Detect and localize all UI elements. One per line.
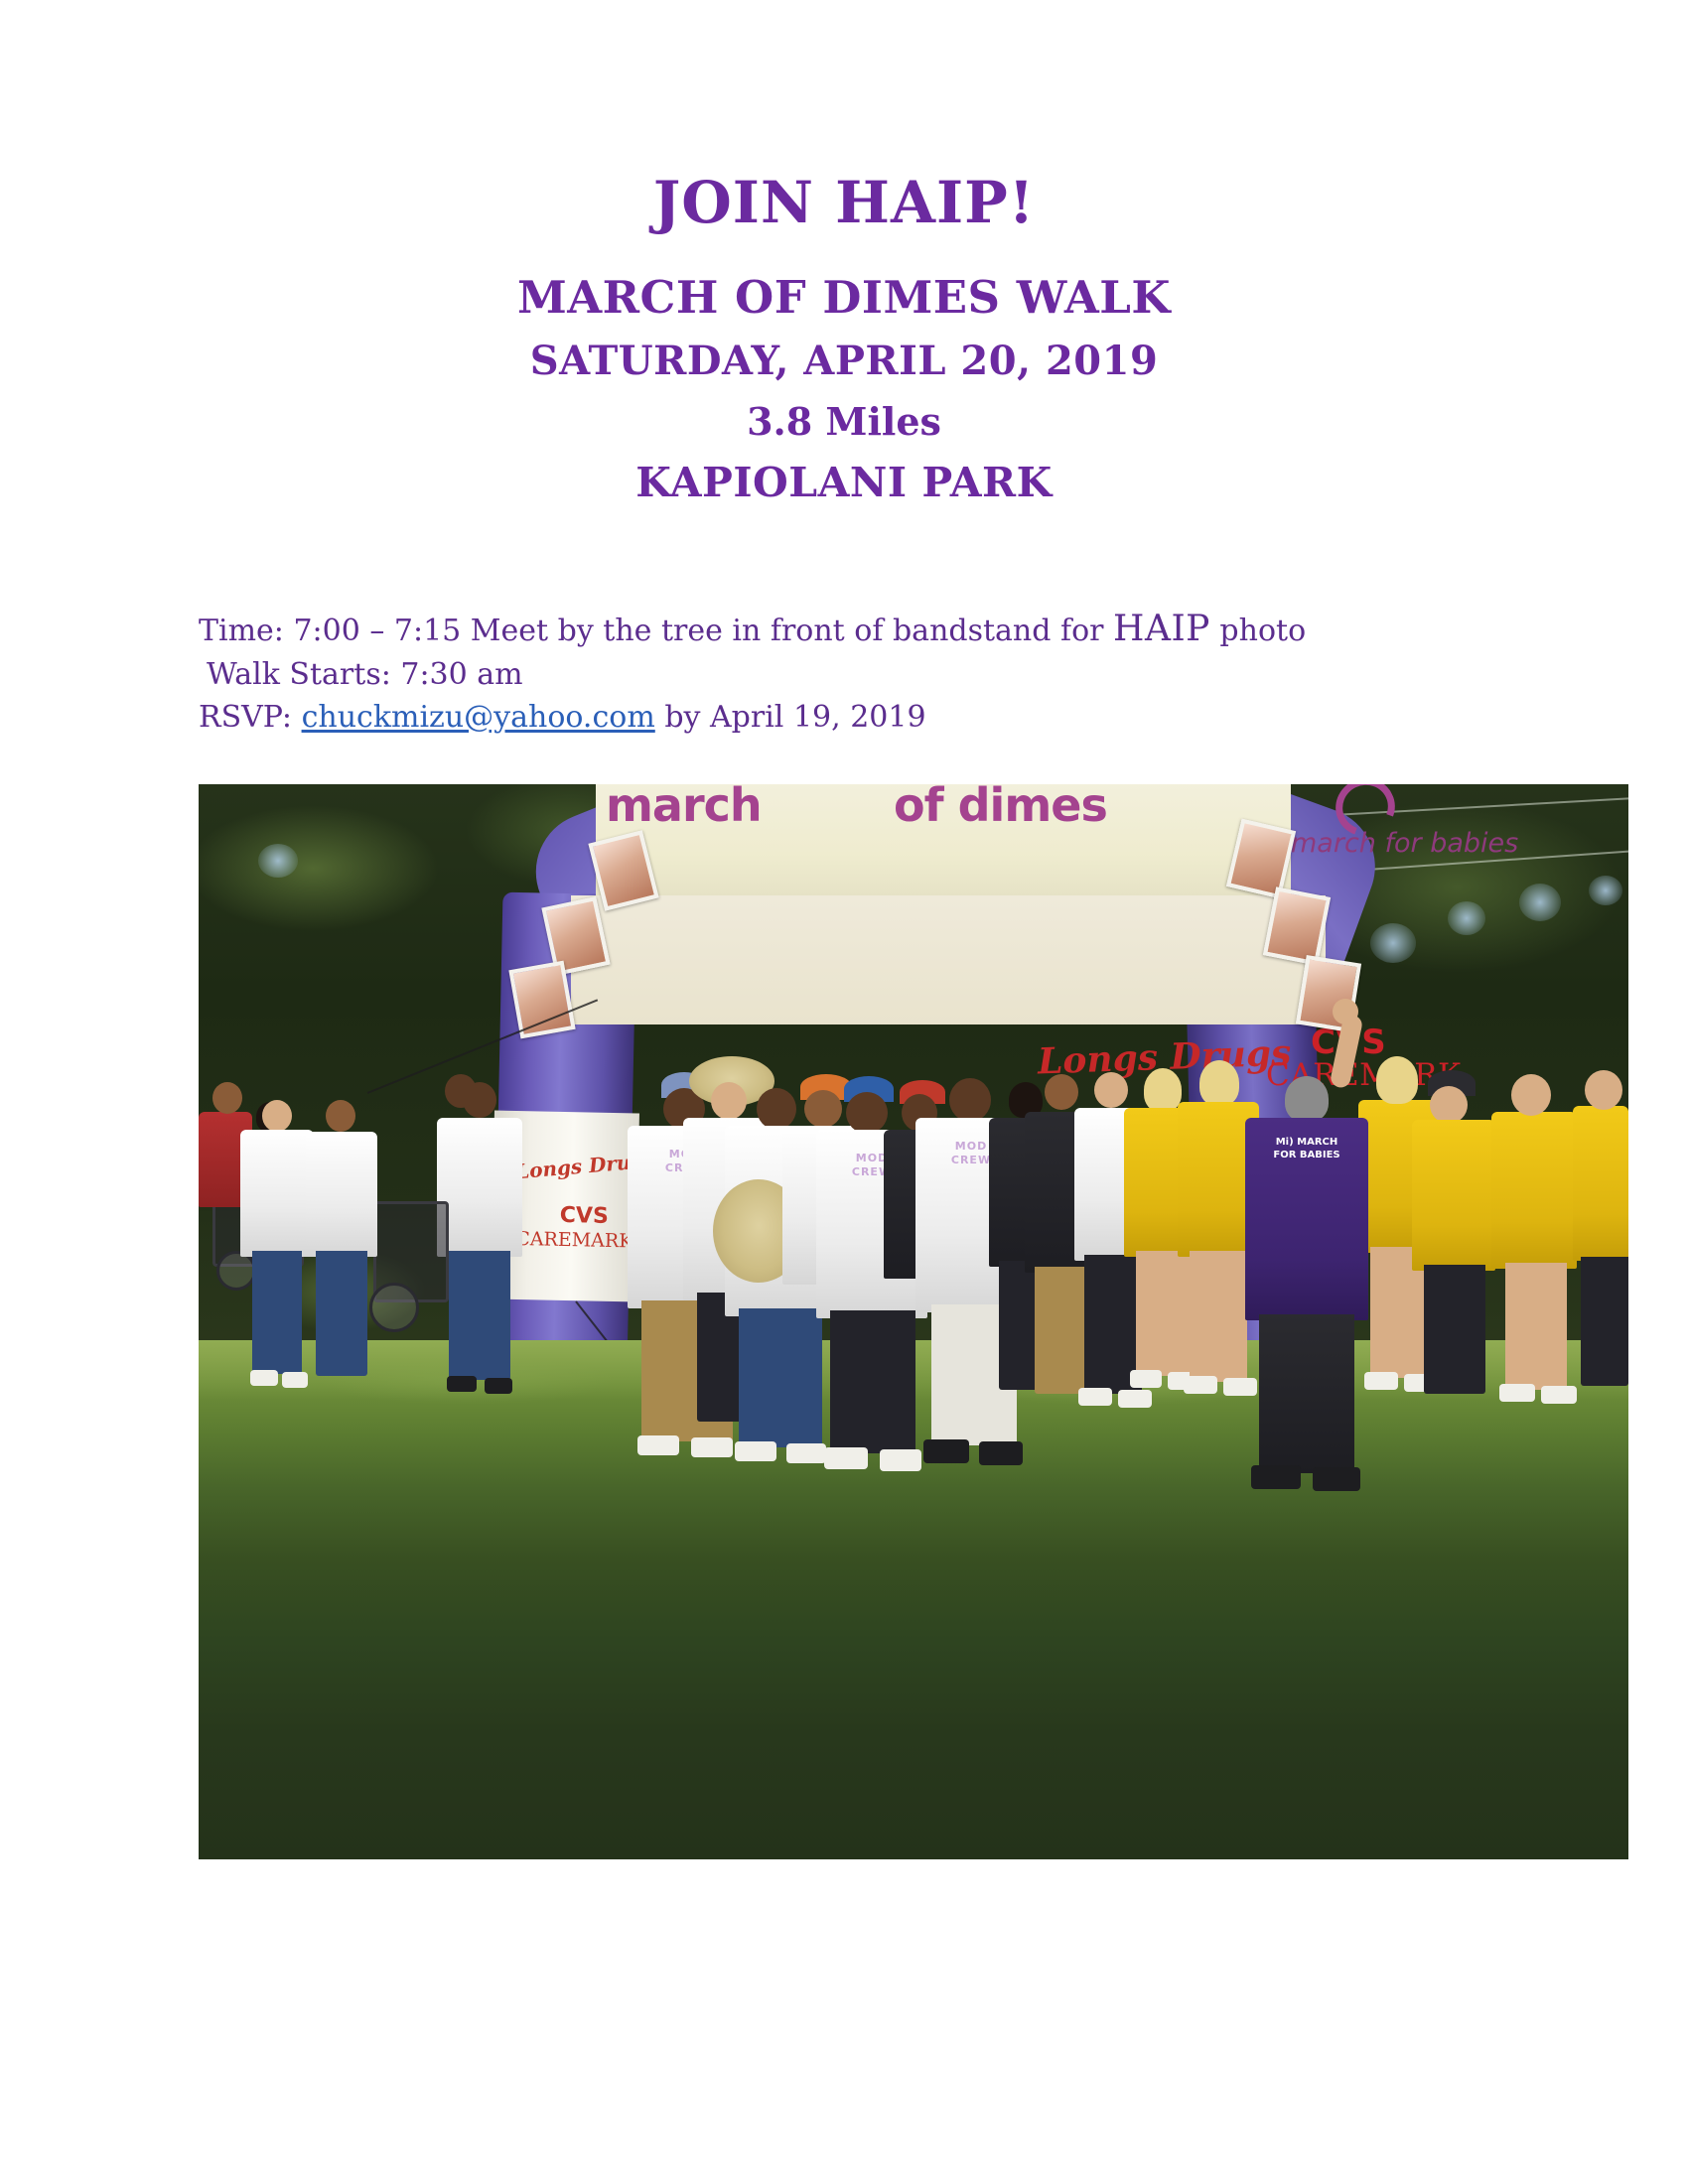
event-name-heading: MARCH OF DIMES WALK [0, 275, 1688, 320]
person-legs [1581, 1257, 1628, 1386]
cvs-logo: CVS [560, 1203, 610, 1229]
detail-line-time: Time: 7:00 – 7:15 Meet by the tree in fr… [199, 604, 1489, 654]
rsvp-label: RSVP: [199, 700, 302, 735]
sky-gap [258, 844, 298, 878]
person-torso [437, 1118, 522, 1257]
rsvp-deadline: by April 19, 2019 [655, 700, 926, 735]
march-for-babies-shirt-text: Mi) MARCHFOR BABIES [1245, 1136, 1368, 1161]
person-shoe [1078, 1388, 1112, 1406]
caremark-logo: CAREMARK [515, 1228, 633, 1252]
haip-acronym: HAIP [1113, 609, 1210, 649]
person-shoe [1251, 1465, 1301, 1489]
person-shoe [1130, 1370, 1162, 1388]
person-shoe [485, 1378, 512, 1394]
person-legs [449, 1251, 510, 1380]
person-shoe [1223, 1378, 1257, 1396]
person-head [262, 1100, 292, 1132]
person-head [1511, 1074, 1551, 1116]
person-shoe [691, 1437, 733, 1457]
person-torso [1491, 1112, 1577, 1269]
person-head [1144, 1068, 1182, 1112]
person-shoe [1118, 1390, 1152, 1408]
person-head [949, 1078, 991, 1122]
march-of-dimes-logo-text2: of dimes [894, 784, 1107, 832]
person-head-gray [1285, 1076, 1329, 1122]
person-shoe [923, 1439, 969, 1463]
event-location-heading: KAPIOLANI PARK [0, 463, 1688, 503]
person-head [804, 1090, 842, 1128]
person-head [212, 1082, 242, 1114]
person-shoe [824, 1447, 868, 1469]
time-text-prefix: Time: 7:00 – 7:15 Meet by the tree in fr… [199, 614, 1113, 648]
person-head [711, 1082, 747, 1120]
person-shoe [786, 1443, 826, 1463]
person-shoe [1364, 1372, 1398, 1390]
arch-banner-sponsors: Longs Drugs CVS CAREMARK [571, 895, 1326, 1024]
person-head [1376, 1056, 1418, 1104]
march-of-dimes-logo-text: march [606, 784, 762, 832]
stroller-wheel [369, 1283, 419, 1332]
person-shoe [735, 1441, 776, 1461]
sky-gap [1519, 884, 1561, 921]
person-legs [252, 1251, 302, 1374]
event-photo: march of dimes march for babies Longs Dr… [199, 784, 1628, 1859]
sky-gap [1448, 901, 1485, 935]
person-shoe [1499, 1384, 1535, 1402]
person-head [1045, 1074, 1078, 1110]
person-head [757, 1088, 796, 1130]
person-torso-march-for-babies: Mi) MARCHFOR BABIES [1245, 1118, 1368, 1320]
person-head [1430, 1086, 1468, 1124]
detail-line-walk-start: Walk Starts: 7:30 am [199, 654, 1489, 697]
heading-block: JOIN HAIP! MARCH OF DIMES WALK SATURDAY,… [0, 174, 1688, 503]
event-distance-heading: 3.8 Miles [0, 403, 1688, 441]
rsvp-email-link[interactable]: chuckmizu@yahoo.com [302, 700, 655, 735]
person-head [846, 1092, 888, 1134]
person-shoe [1541, 1386, 1577, 1404]
person-head [445, 1074, 477, 1108]
person-head [326, 1100, 355, 1132]
person-torso [240, 1130, 314, 1257]
arch-banner-top: march of dimes march for babies [596, 784, 1291, 905]
person-shoe [447, 1376, 477, 1392]
person-torso [306, 1132, 377, 1257]
person-shoe [979, 1441, 1023, 1465]
person-legs [1505, 1263, 1567, 1390]
person-torso [1573, 1106, 1628, 1261]
person-legs [830, 1310, 915, 1453]
person-legs [1190, 1251, 1247, 1382]
person-legs [1424, 1265, 1485, 1394]
person-torso [1412, 1120, 1495, 1271]
person-shoe [1313, 1467, 1360, 1491]
person-legs [739, 1308, 822, 1447]
flyer-page: JOIN HAIP! MARCH OF DIMES WALK SATURDAY,… [0, 0, 1688, 2184]
time-text-suffix: photo [1210, 614, 1306, 648]
baby-photo-card [508, 961, 575, 1039]
sky-gap [1589, 876, 1622, 905]
march-for-babies-tagline: march for babies [1291, 828, 1518, 859]
page-title: JOIN HAIP! [0, 174, 1688, 231]
person-shoe [637, 1435, 679, 1455]
event-date-heading: SATURDAY, APRIL 20, 2019 [0, 341, 1688, 381]
person-legs [1136, 1251, 1192, 1376]
hand [1333, 999, 1358, 1024]
person-shoe [282, 1372, 308, 1388]
person-legs [316, 1251, 367, 1376]
person-shoe [880, 1449, 921, 1471]
sky-gap [1370, 923, 1416, 963]
person-head [1094, 1072, 1128, 1108]
person-shoe [250, 1370, 278, 1386]
stroller-wheel [216, 1251, 256, 1291]
person-head [1585, 1070, 1622, 1110]
person-head [1199, 1060, 1239, 1106]
detail-line-rsvp: RSVP: chuckmizu@yahoo.com by April 19, 2… [199, 697, 1489, 740]
person-shoe [1184, 1376, 1217, 1394]
person-legs [1259, 1314, 1354, 1473]
event-details-block: Time: 7:00 – 7:15 Meet by the tree in fr… [199, 604, 1489, 739]
